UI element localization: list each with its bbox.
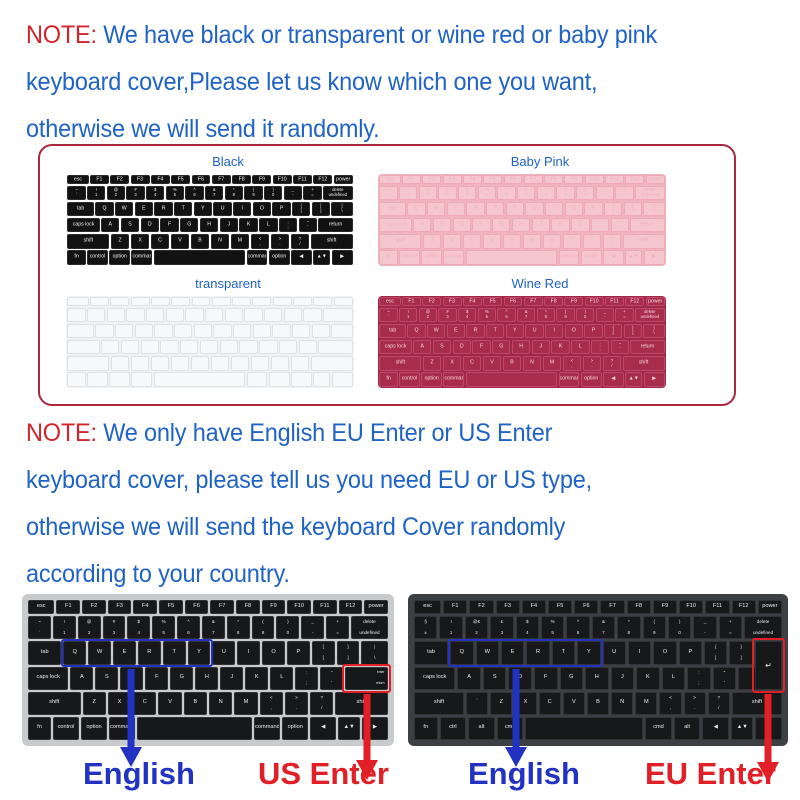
keyboard-key: F — [145, 667, 168, 690]
keyboard-key: power — [334, 175, 353, 184]
keyboard-row — [66, 372, 354, 387]
keyboard-key: += — [615, 186, 633, 201]
keyboard-row: caps lockASDFGHJKL:;"'return — [66, 218, 354, 233]
keyboard-key: X — [443, 356, 462, 371]
keyboard-key: ^6 — [566, 616, 589, 639]
keyboard-key — [185, 308, 203, 323]
keyboard-key: F — [160, 218, 178, 233]
keyboard-key: N — [611, 692, 633, 715]
keyboard-key — [332, 372, 353, 387]
keyboard-key: R — [526, 641, 549, 664]
keyboard-key: H — [200, 218, 218, 233]
keyboard-key: power — [646, 297, 665, 306]
keyboard-key: S — [433, 340, 451, 355]
keyboard-key: L — [259, 218, 277, 233]
keyboard-key: I — [545, 324, 563, 339]
caption-english-us: English — [83, 756, 195, 792]
keyboard-key: ^6 — [497, 186, 515, 201]
keyboard-key — [171, 297, 190, 306]
keyboard-key — [174, 324, 192, 339]
keyboard-key: %5 — [478, 308, 496, 323]
keyboard-key: F1 — [90, 175, 109, 184]
keyboard-row: shiftZXCVBNM<,>.?/shift — [378, 356, 666, 371]
keyboard-key: F5 — [548, 600, 572, 614]
keyboard-key: <, — [659, 692, 681, 715]
keyboard-row: shift`ZXCVBNM<,>.?/shift — [412, 692, 784, 715]
keyboard-key: A — [413, 218, 431, 233]
keyboard-row — [66, 308, 354, 323]
keyboard-key: F9 — [262, 600, 286, 614]
keyboard-row: caps lockASDFGHJKL:;"'return — [378, 340, 666, 355]
keyboard-key: :; — [591, 340, 609, 355]
keyboard-key: ▲▼ — [313, 250, 330, 265]
keyboard-key: R — [154, 202, 172, 217]
keyboard-key: !1 — [399, 186, 417, 201]
keyboard-key — [299, 340, 317, 355]
us-keyboard-keys: escF1F2F3F4F5F6F7F8F9F10F11F12power~`!1@… — [26, 598, 390, 742]
keyboard-key: Y — [194, 202, 212, 217]
keyboard-key — [126, 308, 144, 323]
keyboard-key: P — [584, 202, 602, 217]
keyboard-key: shift — [311, 234, 353, 249]
keyboard-key — [311, 356, 353, 371]
keyboard-key: &7 — [592, 616, 615, 639]
product-description-page: NOTE: We have black or transparent or wi… — [0, 0, 800, 800]
keyboard-key: "' — [320, 667, 343, 690]
keyboard-key: :; — [279, 218, 297, 233]
keyboard-key: F — [472, 218, 490, 233]
keyboard-key: Y — [577, 641, 600, 664]
keyboard-key — [225, 308, 243, 323]
keyboard-key: )0 — [576, 308, 594, 323]
keyboard-key: W — [476, 641, 499, 664]
keyboard-key: ^6 — [177, 616, 200, 639]
keyboard-key: tab — [414, 641, 448, 664]
keyboard-key: option — [421, 250, 442, 265]
keyboard-key: R — [138, 641, 161, 664]
keyboard-key — [101, 340, 119, 355]
keyboard-row: shiftZXCVBNM<,>.?/shift — [66, 234, 354, 249]
keyboard-key — [191, 356, 210, 371]
keyboard-key: alt — [468, 717, 495, 740]
keyboard-key: P — [584, 324, 602, 339]
keyboard-key: ▶ — [644, 372, 665, 387]
keyboard-key: §± — [414, 616, 437, 639]
keyboard-cover-transparent — [66, 296, 354, 388]
keyboard-key: >. — [684, 692, 706, 715]
keyboard-key — [131, 356, 150, 371]
keyboard-key: tab — [379, 202, 406, 217]
keyboard-key: A — [413, 340, 431, 355]
keyboard-key: return — [318, 218, 352, 233]
swatch-label-wine-red: Wine Red — [440, 276, 640, 291]
keyboard-key: Q — [407, 202, 425, 217]
keyboard-key: O — [565, 324, 583, 339]
keyboard-key: (9 — [252, 616, 275, 639]
keyboard-key: ~` — [379, 308, 397, 323]
keyboard-key: fn — [379, 372, 397, 387]
keyboard-key: T — [486, 324, 504, 339]
keyboard-key: E — [501, 641, 524, 664]
keyboard-key: ?/ — [708, 692, 730, 715]
note2-line-3: otherwise we will send the keyboard Cove… — [26, 504, 733, 551]
keyboard-key: command — [443, 372, 464, 387]
keyboard-key — [269, 372, 290, 387]
keyboard-key: W — [115, 202, 133, 217]
keyboard-key: option — [81, 717, 107, 740]
keyboard-key — [180, 340, 198, 355]
keyboard-key: A — [101, 218, 119, 233]
keyboard-key — [293, 297, 312, 306]
keyboard-key — [253, 324, 271, 339]
keyboard-key: W — [88, 641, 111, 664]
keyboard-key — [194, 324, 212, 339]
keyboard-key: caps lock — [67, 218, 99, 233]
keyboard-key — [331, 324, 352, 339]
note1-prefix: NOTE: — [26, 21, 97, 49]
keyboard-key: option — [581, 372, 602, 387]
note1-line-2: keyboard cover,Please let us know which … — [26, 59, 733, 106]
keyboard-key: &7 — [205, 186, 223, 201]
keyboard-key — [135, 324, 153, 339]
keyboard-key: F12 — [732, 600, 756, 614]
keyboard-key — [146, 308, 164, 323]
keyboard-key: £3 — [490, 616, 513, 639]
keyboard-key — [166, 308, 184, 323]
keyboard-row: fnctrlaltcmdcmdalt◀▲▼▶ — [412, 717, 784, 740]
keyboard-key: U — [603, 641, 626, 664]
keyboard-key: #3 — [438, 308, 456, 323]
keyboard-key: ~` — [379, 186, 397, 201]
keyboard-key: deleteundefined — [744, 616, 782, 639]
keyboard-key: F11 — [605, 297, 624, 306]
keyboard-key: @2 — [107, 186, 125, 201]
keyboard-key: += — [615, 308, 633, 323]
keyboard-row: fncontroloptioncommandcommandoption◀▲▼▶ — [26, 717, 390, 740]
keyboard-key — [525, 717, 643, 740]
keyboard-key — [212, 297, 231, 306]
keyboard-key — [272, 324, 290, 339]
keyboard-key: }] — [312, 202, 330, 217]
keyboard-key: C — [151, 234, 170, 249]
keyboard-key: F10 — [585, 175, 604, 184]
keyboard-row — [66, 340, 354, 355]
keyboard-key: @2 — [78, 616, 101, 639]
keyboard-key — [110, 297, 129, 306]
keyboard-key: Q — [95, 202, 113, 217]
keyboard-key: {[ — [604, 202, 622, 217]
keyboard-key: L — [571, 340, 589, 355]
keyboard-key — [131, 297, 150, 306]
keyboard-row: fncontroloptioncommandcommandoption◀▲▼▶ — [378, 250, 666, 265]
keyboard-key: command — [254, 717, 280, 740]
keyboard-row: shiftZXCVBNM<,>.?/shift — [378, 234, 666, 249]
keyboard-row: escF1F2F3F4F5F6F7F8F9F10F11F12power — [378, 297, 666, 306]
keyboard-key: F11 — [605, 175, 624, 184]
keyboard-key: esc — [28, 600, 54, 614]
keyboard-key — [323, 308, 353, 323]
keyboard-key: &7 — [517, 186, 535, 201]
keyboard-key: command — [443, 250, 464, 265]
keyboard-row: escF1F2F3F4F5F6F7F8F9F10F11F12power — [378, 175, 666, 184]
keyboard-key: caps lock — [379, 340, 411, 355]
keyboard-key: A — [70, 667, 93, 690]
keyboard-key: F8 — [544, 175, 563, 184]
keyboard-key: %5 — [166, 186, 184, 201]
keyboard-key: fn — [67, 250, 85, 265]
keyboard-key: {[ — [312, 641, 335, 664]
keyboard-key: N — [211, 234, 230, 249]
keyboard-key: ^6 — [185, 186, 203, 201]
keyboard-key: control — [53, 717, 79, 740]
keyboard-key — [273, 297, 292, 306]
keyboard-key: ?/ — [603, 356, 622, 371]
keyboard-key: }] — [624, 324, 642, 339]
keyboard-key: )0 — [668, 616, 691, 639]
keyboard-key: shift — [623, 356, 665, 371]
keyboard-row: escF1F2F3F4F5F6F7F8F9F10F11F12power — [412, 600, 784, 614]
keyboard-key: |\ — [643, 202, 664, 217]
keyboard-key: F5 — [483, 175, 502, 184]
keyboard-key: @2 — [419, 186, 437, 201]
keyboard-key: B — [503, 356, 522, 371]
eu-keyboard-keys: escF1F2F3F4F5F6F7F8F9F10F11F12power§±!1@… — [412, 598, 784, 742]
keyboard-key: esc — [379, 175, 400, 184]
keyboard-key: %5 — [541, 616, 564, 639]
keyboard-key: T — [163, 641, 186, 664]
keyboard-key — [232, 297, 251, 306]
keyboard-key — [247, 372, 268, 387]
keyboard-key — [205, 308, 223, 323]
keyboard-key: F11 — [293, 175, 312, 184]
keyboard-key: $4 — [127, 616, 150, 639]
keyboard-key — [154, 250, 246, 265]
keyboard-key: U — [525, 324, 543, 339]
keyboard-key: alt — [674, 717, 701, 740]
keyboard-key: R — [466, 202, 484, 217]
keyboard-comparison-us: escF1F2F3F4F5F6F7F8F9F10F11F12power~`!1@… — [0, 588, 400, 800]
keyboard-key: F5 — [171, 175, 190, 184]
keyboard-key — [192, 297, 211, 306]
keyboard-key: )0 — [264, 186, 282, 201]
keyboard-key: F9 — [564, 175, 583, 184]
keyboard-key: F7 — [212, 175, 231, 184]
keyboard-key: D — [141, 218, 159, 233]
note2-line-1: NOTE: We only have English EU Enter or U… — [26, 410, 733, 457]
keyboard-key: V — [483, 356, 502, 371]
keyboard-row: caps lockASDFGHJKL:;"'|\ — [412, 667, 784, 690]
keyboard-key — [213, 324, 231, 339]
keyboard-key — [466, 372, 558, 387]
keyboard-row: tabQWERTYUIOP{[}]|\ — [26, 641, 390, 664]
keyboard-key: T — [552, 641, 575, 664]
keyboard-key: F3 — [108, 600, 132, 614]
keyboard-key: Z — [423, 356, 442, 371]
keyboard-key: F2 — [422, 175, 441, 184]
keyboard-row: escF1F2F3F4F5F6F7F8F9F10F11F12power — [26, 600, 390, 614]
keyboard-key: ◀ — [310, 717, 336, 740]
keyboard-key: #3 — [103, 616, 126, 639]
keyboard-key: S — [433, 218, 451, 233]
keyboard-key: ` — [466, 692, 488, 715]
keyboard-key — [291, 356, 310, 371]
keyboard-key — [466, 250, 558, 265]
keyboard-key: *8 — [537, 308, 555, 323]
keyboard-key — [87, 308, 105, 323]
keyboard-key: O — [253, 202, 271, 217]
keyboard-key: Q — [407, 324, 425, 339]
keyboard-key: <, — [563, 234, 582, 249]
keyboard-key: C — [463, 234, 482, 249]
keyboard-key: F4 — [151, 175, 170, 184]
keyboard-key: Z — [111, 234, 130, 249]
keyboard-key: I — [233, 202, 251, 217]
keyboard-key: :; — [687, 667, 711, 690]
keyboard-key: ▲▼ — [625, 250, 642, 265]
keyboard-key: F2 — [469, 600, 493, 614]
keyboard-key: B — [184, 692, 207, 715]
keyboard-key: option — [581, 250, 602, 265]
keyboard-key: deleteundefined — [351, 616, 388, 639]
keyboard-key: caps lock — [379, 218, 411, 233]
keyboard-key: F4 — [463, 297, 482, 306]
keyboard-key: U — [525, 202, 543, 217]
keyboard-key — [107, 308, 125, 323]
keyboard-key: ◀ — [603, 372, 624, 387]
keyboard-key: V — [158, 692, 181, 715]
keyboard-key: G — [180, 218, 198, 233]
keyboard-key: F7 — [524, 175, 543, 184]
keyboard-key: option — [269, 250, 290, 265]
keyboard-key: C — [463, 356, 482, 371]
keyboard-key: tab — [67, 202, 94, 217]
keyboard-key: power — [758, 600, 782, 614]
note2-prefix: NOTE: — [26, 419, 97, 447]
keyboard-key: >. — [583, 234, 602, 249]
keyboard-key — [334, 297, 353, 306]
keyboard-comparison-eu: escF1F2F3F4F5F6F7F8F9F10F11F12power§±!1@… — [400, 588, 800, 800]
us-return-key: enterreturn — [345, 667, 388, 690]
keyboard-key: caps lock — [28, 667, 68, 690]
keyboard-key: Y — [506, 324, 524, 339]
keyboard-key: command — [559, 372, 580, 387]
keyboard-key: Y — [188, 641, 211, 664]
caption-eu-enter: EU Enter — [645, 756, 776, 792]
keyboard-key — [151, 356, 170, 371]
keyboard-key: += — [303, 186, 321, 201]
keyboard-key: B — [503, 234, 522, 249]
keyboard-key: M — [635, 692, 657, 715]
keyboard-key: N — [523, 234, 542, 249]
keyboard-key — [95, 324, 113, 339]
keyboard-key — [233, 324, 251, 339]
keyboard-key — [244, 308, 262, 323]
keyboard-key: X — [443, 234, 462, 249]
keyboard-key: ◀ — [702, 717, 729, 740]
keyboard-key: F5 — [483, 297, 502, 306]
keyboard-key — [303, 308, 321, 323]
keyboard-key: H — [512, 340, 530, 355]
keyboard-key: :; — [591, 218, 609, 233]
keyboard-key: #3 — [126, 186, 144, 201]
keyboard-key: >. — [285, 692, 308, 715]
keyboard-key: E — [135, 202, 153, 217]
keyboard-key: K — [636, 667, 660, 690]
keyboard-key — [292, 324, 310, 339]
keyboard-key: _- — [596, 186, 614, 201]
keyboard-key — [264, 308, 282, 323]
keyboard-key: :; — [295, 667, 318, 690]
keyboard-row: caps lockASDFGHJKL:;"'return — [378, 218, 666, 233]
keyboard-key: T — [174, 202, 192, 217]
keyboard-key: J — [220, 218, 238, 233]
keyboard-key: F9 — [653, 600, 677, 614]
keyboard-key: cmd — [645, 717, 672, 740]
keyboard-key: V — [171, 234, 190, 249]
keyboard-key: $4 — [516, 616, 539, 639]
keyboard-row: shiftZXCVBNM<,>.?/shift — [26, 692, 390, 715]
keyboard-key: {[ — [604, 324, 622, 339]
keyboard-key: power — [364, 600, 388, 614]
keyboard-key: J — [532, 218, 550, 233]
keyboard-key — [151, 297, 170, 306]
keyboard-key: F12 — [339, 600, 363, 614]
keyboard-key: shift — [28, 692, 81, 715]
keyboard-key: }] — [624, 202, 642, 217]
keyboard-key: F10 — [679, 600, 703, 614]
keyboard-key: !1 — [439, 616, 462, 639]
keyboard-row — [66, 324, 354, 339]
keyboard-key: M — [231, 234, 250, 249]
keyboard-key: >. — [583, 356, 602, 371]
keyboard-key: F4 — [522, 600, 546, 614]
note2-text-1: We only have English EU Enter or US Ente… — [97, 419, 552, 447]
keyboard-key: &7 — [517, 308, 535, 323]
keyboard-key: F12 — [313, 175, 332, 184]
keyboard-key: F12 — [625, 175, 644, 184]
keyboard-key: ◀ — [291, 250, 312, 265]
keyboard-key: B — [191, 234, 210, 249]
keyboard-key: !1 — [53, 616, 76, 639]
keyboard-key: V — [483, 234, 502, 249]
keyboard-key: fn — [379, 250, 397, 265]
keyboard-key: W — [427, 324, 445, 339]
keyboard-key: ~` — [67, 186, 85, 201]
keyboard-row: ~`!1@2#3$4%5^6&7*8(9)0_-+=deleteundefine… — [378, 308, 666, 323]
keyboard-key: command — [559, 250, 580, 265]
keyboard-key: O — [262, 641, 285, 664]
keyboard-key: F8 — [236, 600, 260, 614]
keyboard-key: esc — [414, 600, 441, 614]
keyboard-key: #3 — [438, 186, 456, 201]
keyboard-row: fncontroloptioncommandcommandoption◀▲▼▶ — [66, 250, 354, 265]
keyboard-key: command — [247, 250, 268, 265]
keyboard-key — [313, 297, 332, 306]
keyboard-key: "' — [611, 340, 629, 355]
keyboard-key: I — [545, 202, 563, 217]
keyboard-key: $4 — [458, 308, 476, 323]
keyboard-key — [67, 356, 109, 371]
keyboard-cover-wine-red: escF1F2F3F4F5F6F7F8F9F10F11F12power~`!1@… — [378, 296, 666, 388]
keyboard-key: F2 — [422, 297, 441, 306]
keyboard-key: shift — [623, 234, 665, 249]
keyboard-key: @2 — [419, 308, 437, 323]
keyboard-key: _- — [301, 616, 324, 639]
keyboard-key: G — [560, 667, 584, 690]
keyboard-key: ?/ — [603, 234, 622, 249]
keyboard-key: ▶ — [644, 250, 665, 265]
swatch-label-black: Black — [128, 154, 328, 169]
